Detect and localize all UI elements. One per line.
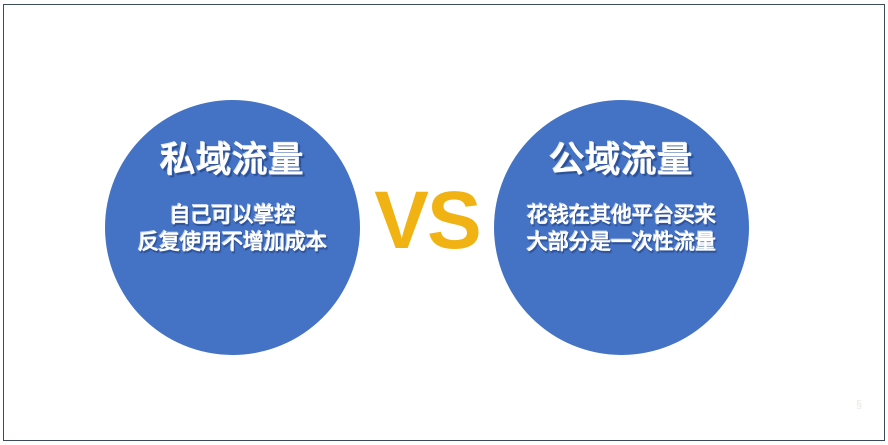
public-traffic-subtitle-line-2: 大部分是一次性流量: [527, 229, 716, 256]
private-traffic-circle[interactable]: 私域流量 自己可以掌控 反复使用不增加成本: [105, 100, 360, 355]
comparison-slide: 私域流量 自己可以掌控 反复使用不增加成本 VS 公域流量 花钱在其他平台买来 …: [0, 0, 888, 445]
private-traffic-subtitle-line-2: 反复使用不增加成本: [138, 229, 327, 256]
versus-label: VS: [367, 180, 487, 262]
slide-canvas: 私域流量 自己可以掌控 反复使用不增加成本 VS 公域流量 花钱在其他平台买来 …: [0, 0, 888, 445]
watermark-mark: §: [852, 397, 866, 413]
public-traffic-title: 公域流量: [549, 142, 693, 180]
private-traffic-subtitle-line-1: 自己可以掌控: [138, 202, 327, 229]
public-traffic-subtitle-line-1: 花钱在其他平台买来: [527, 202, 716, 229]
private-traffic-subtitle: 自己可以掌控 反复使用不增加成本: [138, 202, 327, 257]
public-traffic-subtitle: 花钱在其他平台买来 大部分是一次性流量: [527, 202, 716, 257]
private-traffic-title: 私域流量: [160, 142, 304, 180]
public-traffic-circle[interactable]: 公域流量 花钱在其他平台买来 大部分是一次性流量: [494, 100, 749, 355]
